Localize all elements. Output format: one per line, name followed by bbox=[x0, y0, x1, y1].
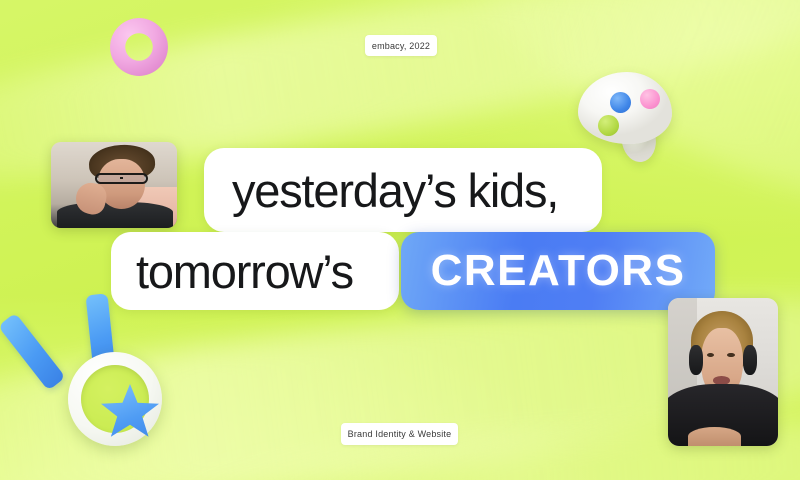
webcam-right-headphone-right-icon bbox=[743, 345, 757, 375]
headline-line-1-card: yesterday’s kids, bbox=[204, 148, 602, 232]
webcam-left-glasses-icon bbox=[95, 173, 148, 184]
webcam-thumbnail-left[interactable] bbox=[51, 142, 177, 228]
badge-services-label: Brand Identity & Website bbox=[348, 429, 452, 439]
pink-torus-icon bbox=[110, 18, 168, 76]
poster-canvas: embacy, 2022 yesterday’s kids, tomorrow’… bbox=[0, 0, 800, 480]
webcam-left-image bbox=[51, 142, 177, 228]
headline-line-1-text: yesterday’s kids, bbox=[232, 167, 558, 214]
headline-line-2-text: tomorrow’s bbox=[136, 248, 353, 295]
medal-inner-disc bbox=[81, 365, 149, 433]
palette-pink-dot-icon bbox=[640, 89, 660, 109]
webcam-right-hand bbox=[688, 427, 741, 446]
medal-ring-shape bbox=[68, 352, 162, 446]
webcam-right-headphone-left-icon bbox=[689, 345, 703, 375]
star-medal-icon bbox=[24, 294, 170, 448]
webcam-right-image bbox=[668, 298, 778, 446]
medal-star-icon bbox=[101, 384, 159, 439]
badge-credit-label: embacy, 2022 bbox=[372, 41, 430, 51]
palette-green-dot-icon bbox=[598, 115, 619, 136]
badge-credit: embacy, 2022 bbox=[365, 35, 437, 56]
webcam-thumbnail-right[interactable] bbox=[668, 298, 778, 446]
palette-blue-dot-icon bbox=[610, 92, 631, 113]
headline-highlight-text: CREATORS bbox=[431, 246, 686, 296]
paint-palette-icon bbox=[578, 72, 682, 164]
badge-services: Brand Identity & Website bbox=[341, 423, 458, 445]
